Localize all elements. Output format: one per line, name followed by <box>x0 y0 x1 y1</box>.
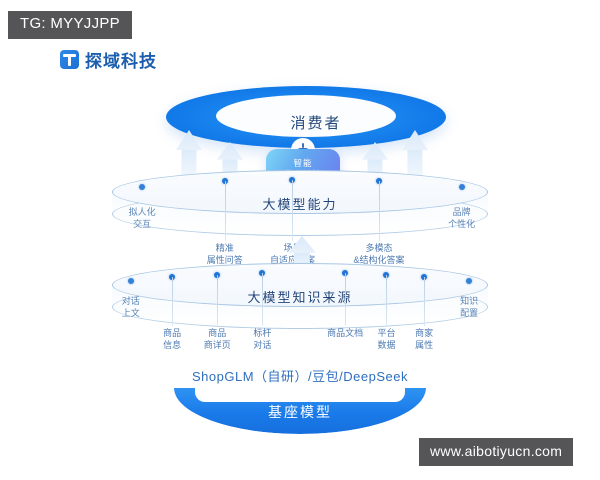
rim-node-stem <box>424 277 425 326</box>
watermark-bottom-right: www.aibotiyucn.com <box>419 438 573 466</box>
base-model-caption: ShopGLM（自研）/豆包/DeepSeek <box>0 366 600 385</box>
rim-node-stem <box>262 273 263 326</box>
rim-node-label: 拟人化交互 <box>129 207 156 230</box>
tanyu-logo-icon <box>60 50 79 69</box>
rim-node-stem <box>386 275 387 326</box>
rim-node-label: 知识配置 <box>460 296 478 319</box>
rim-node-label: 商家属性 <box>415 328 433 351</box>
capability-layer-disc: 大模型能力 <box>112 170 488 236</box>
consumer-label: 消费者 <box>290 112 341 133</box>
brand-name: 探域科技 <box>85 47 157 72</box>
rim-node-stem <box>345 273 346 326</box>
knowledge-layer-title: 大模型知识来源 <box>112 287 488 306</box>
capability-layer-title: 大模型能力 <box>112 194 488 213</box>
watermark-top-left: TG: MYYJJPP <box>8 11 132 39</box>
base-model-label: 基座模型 <box>174 402 426 422</box>
smart-qa-line1: 智能 <box>293 158 312 169</box>
rim-node-stem <box>225 181 226 241</box>
rim-node-label: 平台数据 <box>377 328 395 351</box>
knowledge-layer-disc: 大模型知识来源 <box>112 263 488 329</box>
architecture-diagram: 消费者 智能 能力问答 大模型能力 拟人化交互精准属性问答场景自适应答案多模态&… <box>0 0 600 480</box>
rim-node-stem <box>217 275 218 326</box>
rim-node-label: 商品商详页 <box>204 328 231 351</box>
rim-node-label: 商品文档 <box>327 328 363 340</box>
rim-node-label: 对话上文 <box>122 296 140 319</box>
rim-node-stem <box>379 181 380 241</box>
consumer-ring-inner: 消费者 <box>216 95 396 137</box>
rim-node-stem <box>172 277 173 326</box>
rim-node-label: 商品信息 <box>163 328 181 351</box>
rim-node-label: 标杆对话 <box>253 328 271 351</box>
brand-logo: 探域科技 <box>60 47 157 72</box>
rim-node-label: 品牌个性化 <box>448 207 475 230</box>
rim-node-dot <box>139 184 145 190</box>
base-model-shape: 基座模型 <box>174 388 426 434</box>
rim-node-stem <box>292 180 293 241</box>
